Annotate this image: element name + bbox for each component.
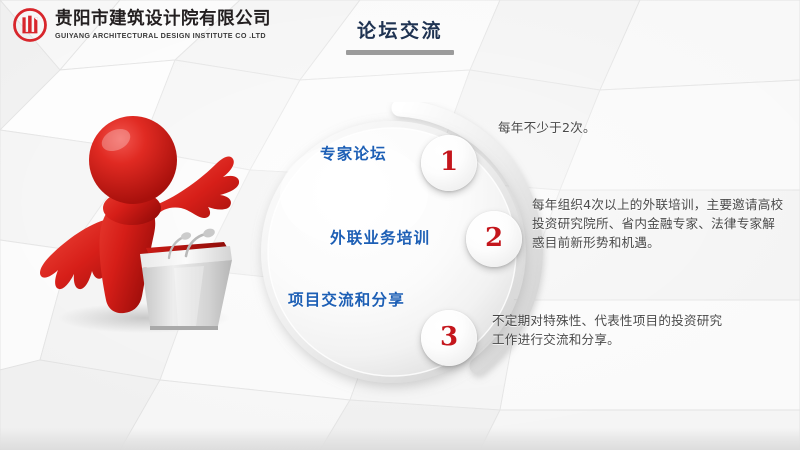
diagram-item-label-2[interactable]: 外联业务培训 <box>330 226 430 248</box>
diagram-number-badge-1[interactable]: 1 <box>421 135 477 191</box>
slide-title-block: 论坛交流 <box>0 16 800 55</box>
badge-number-2: 2 <box>485 225 503 251</box>
badge-number-3: 3 <box>440 324 458 350</box>
bottom-shadow-band <box>0 428 800 450</box>
diagram-number-badge-2[interactable]: 2 <box>466 211 522 267</box>
slide-canvas: 贵阳市建筑设计院有限公司 GUIYANG ARCHITECTURAL DESIG… <box>0 0 800 450</box>
red-3d-speaker-illustration <box>26 104 266 334</box>
title-underline-rule <box>346 50 454 55</box>
diagram-number-badge-3[interactable]: 3 <box>421 310 477 366</box>
diagram-item-description-2: 每年组织4次以上的外联培训，主要邀请高校投资研究院所、省内金融专家、法律专家解惑… <box>532 195 784 252</box>
page-title: 论坛交流 <box>357 16 443 43</box>
diagram-item-label-3[interactable]: 项目交流和分享 <box>288 288 405 310</box>
diagram-item-description-1: 每年不少于2次。 <box>498 118 748 137</box>
diagram-item-description-3: 不定期对特殊性、代表性项目的投资研究工作进行交流和分享。 <box>492 311 734 349</box>
diagram-item-label-1[interactable]: 专家论坛 <box>320 142 387 164</box>
badge-number-1: 1 <box>440 149 458 175</box>
